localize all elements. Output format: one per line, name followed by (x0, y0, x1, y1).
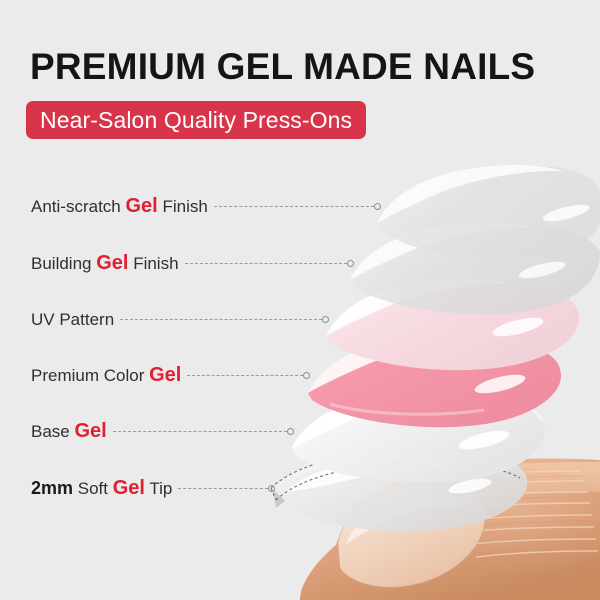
leader-endpoint-building-gel-finish (347, 260, 354, 267)
callout-label-base-gel: Base Gel (31, 418, 107, 444)
callout-label-anti-scratch-gel-finish: Anti-scratch Gel Finish (31, 193, 208, 219)
callout-label-2mm-soft-gel-tip: 2mm Soft Gel Tip (31, 475, 172, 501)
leader-endpoint-base-gel (287, 428, 294, 435)
callout-list: Anti-scratch Gel FinishBuilding Gel Fini… (0, 0, 600, 600)
callout-label-uv-pattern: UV Pattern (31, 306, 114, 332)
callout-text: UV Pattern (31, 311, 114, 328)
callout-label-building-gel-finish: Building Gel Finish (31, 250, 179, 276)
leader-endpoint-2mm-soft-gel-tip (268, 485, 275, 492)
leader-line-anti-scratch-gel-finish (214, 206, 374, 208)
leader-line-building-gel-finish (185, 263, 347, 265)
leader-line-uv-pattern (120, 319, 322, 321)
leader-line-premium-color-gel (187, 375, 303, 377)
leader-endpoint-uv-pattern (322, 316, 329, 323)
callout-text: 2mm Soft Gel Tip (31, 478, 172, 498)
callout-text: Premium Color Gel (31, 365, 181, 385)
product-infographic: PREMIUM GEL MADE NAILS Near-Salon Qualit… (0, 0, 600, 600)
callout-label-premium-color-gel: Premium Color Gel (31, 362, 181, 388)
callout-text: Base Gel (31, 421, 107, 441)
callout-text: Building Gel Finish (31, 253, 179, 273)
callout-text: Anti-scratch Gel Finish (31, 196, 208, 216)
leader-line-base-gel (113, 431, 287, 433)
leader-endpoint-anti-scratch-gel-finish (374, 203, 381, 210)
leader-endpoint-premium-color-gel (303, 372, 310, 379)
leader-line-2mm-soft-gel-tip (178, 488, 268, 490)
